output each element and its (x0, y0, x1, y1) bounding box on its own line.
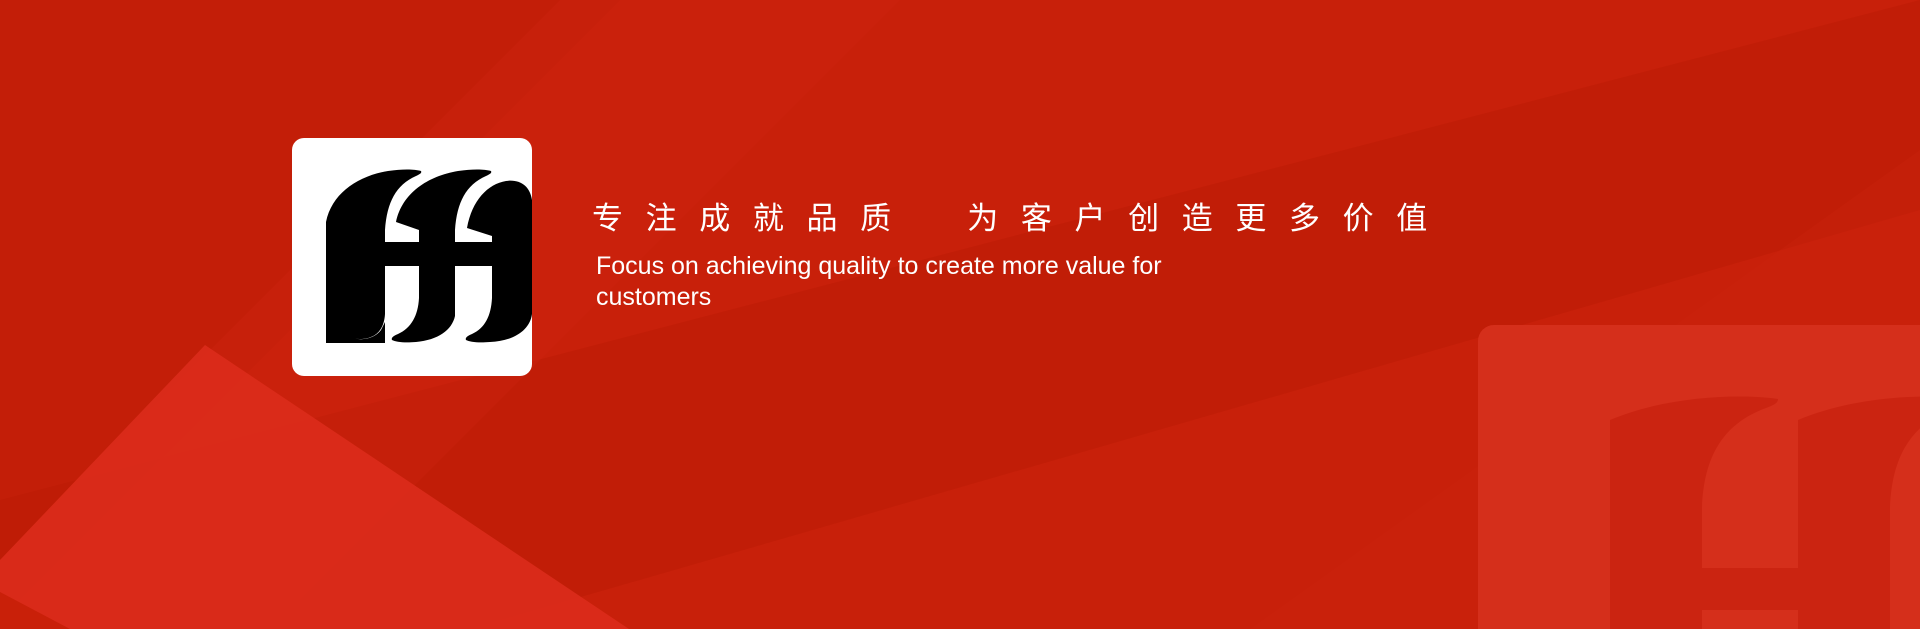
background-pattern (0, 0, 1920, 629)
watermark-plate (1478, 325, 1920, 629)
headline-english: Focus on achieving quality to create mor… (596, 251, 1228, 313)
h-monogram-watermark (1478, 325, 1920, 629)
company-logo-svg (292, 138, 532, 376)
slogan-block: 专 注 成 就 品 质 为 客 户 创 造 更 多 价 值 Focus on a… (592, 198, 1352, 313)
background-corner-notch (0, 592, 70, 629)
background-base-rect (0, 0, 1920, 629)
background-bright-triangle (0, 345, 629, 629)
watermark-svg (1478, 325, 1920, 629)
company-logo[interactable] (292, 138, 532, 376)
hero-banner: 专 注 成 就 品 质 为 客 户 创 造 更 多 价 值 Focus on a… (0, 0, 1920, 629)
background-dark-diagonal-band (0, 0, 1920, 629)
background-geometry-svg (0, 0, 1920, 629)
watermark-h-monogram (1610, 397, 1920, 629)
headline-chinese: 专 注 成 就 品 质 为 客 户 创 造 更 多 价 值 (592, 198, 1352, 240)
logo-h-monogram (326, 170, 532, 344)
